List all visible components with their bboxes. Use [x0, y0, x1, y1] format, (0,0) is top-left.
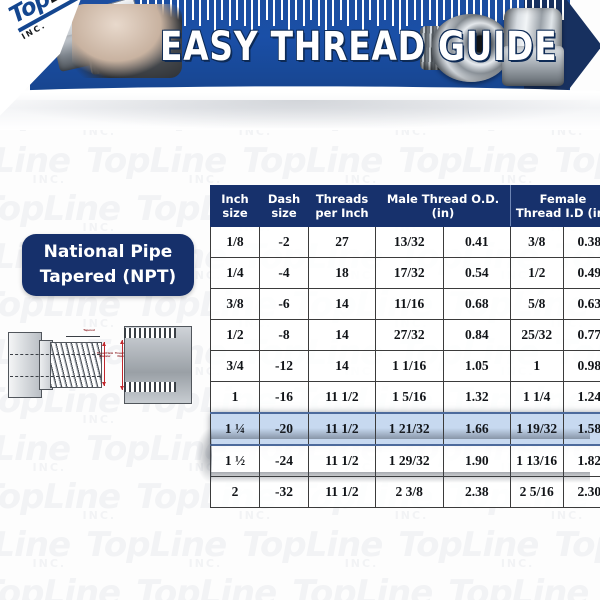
watermark-logo: TopLineINC.: [554, 143, 600, 191]
watermark-logo: TopLineINC.: [398, 143, 538, 191]
cell-tpi: 11 1/2: [309, 445, 376, 477]
cell-dash-size: -20: [260, 413, 309, 445]
cell-male-dec: 1.66: [443, 413, 511, 445]
cell-male-frac: 1 21/32: [376, 413, 444, 445]
cell-male-frac: 1 29/32: [376, 445, 444, 477]
cell-female-dec: 1.58: [563, 413, 600, 445]
watermark-logo: TopLineINC.: [292, 575, 432, 600]
watermark-logo: TopLineINC.: [0, 575, 120, 600]
cell-dash-size: -2: [260, 227, 309, 258]
npt-fitting-diagram: Tapered Thread Flank Diameter Thread Fla…: [4, 316, 200, 412]
cell-female-dec: 0.63: [563, 289, 600, 320]
watermark-logo: TopLineINC.: [86, 527, 226, 575]
watermark-logo: TopLineINC.: [554, 527, 600, 575]
ruler-tick: [384, 0, 386, 20]
banner-title: EASY THREAD GUIDE: [160, 22, 431, 74]
watermark-row: TopLineINC.TopLineINC.TopLineINC.TopLine…: [0, 575, 600, 600]
cell-inch-size: 1: [211, 382, 260, 414]
cell-female-frac: 1 13/16: [511, 445, 564, 477]
header-line-1: Female: [513, 192, 600, 206]
table-head: InchsizeDashsizeThreadsper InchMale Thre…: [211, 186, 600, 227]
cell-male-dec: 1.32: [443, 382, 511, 414]
header-line-2: Thread I.D (in): [513, 206, 600, 220]
cell-female-dec: 0.49: [563, 258, 600, 289]
ruler-tick: [443, 0, 445, 20]
watermark-logo: TopLineINC.: [0, 431, 70, 479]
thread-guide-page: TopLineINC.TopLineINC.TopLineINC.TopLine…: [0, 0, 600, 600]
cell-inch-size: 3/8: [211, 289, 260, 320]
cell-female-frac: 5/8: [511, 289, 564, 320]
header-line-2: per Inch: [311, 206, 373, 220]
thread-spec-table: InchsizeDashsizeThreadsper InchMale Thre…: [210, 185, 600, 508]
cell-female-dec: 2.30: [563, 477, 600, 508]
cell-female-frac: 1 19/32: [511, 413, 564, 445]
cell-female-frac: 1/2: [511, 258, 564, 289]
cell-dash-size: -4: [260, 258, 309, 289]
watermark-logo: TopLineINC.: [86, 431, 226, 479]
header-line-2: size: [213, 206, 257, 220]
table-row[interactable]: 1 ½-2411 1/21 29/321.901 13/161.82: [211, 445, 600, 477]
cell-inch-size: 3/4: [211, 351, 260, 382]
cell-dash-size: -16: [260, 382, 309, 414]
cell-female-frac: 3/8: [511, 227, 564, 258]
cell-male-dec: 0.84: [443, 320, 511, 351]
centerline-upper: [10, 354, 100, 355]
female-thread-top-shape: [124, 328, 176, 338]
ruler-tick: [207, 0, 209, 20]
npt-badge-line-1: National Pipe: [44, 240, 173, 265]
cell-dash-size: -32: [260, 477, 309, 508]
thread-spec-table-wrap: InchsizeDashsizeThreadsper InchMale Thre…: [210, 185, 590, 508]
cell-dash-size: -24: [260, 445, 309, 477]
cell-male-frac: 2 3/8: [376, 477, 444, 508]
cell-male-dec: 0.68: [443, 289, 511, 320]
ruler-tick: [414, 0, 416, 20]
watermark-logo: TopLineINC.: [0, 479, 120, 527]
cell-male-dec: 0.54: [443, 258, 511, 289]
table-header-row: InchsizeDashsizeThreadsper InchMale Thre…: [211, 186, 600, 227]
table-row[interactable]: 1 ¼-2011 1/21 21/321.661 19/321.58: [211, 413, 600, 445]
cell-tpi: 11 1/2: [309, 477, 376, 508]
watermark-logo: TopLineINC.: [242, 143, 382, 191]
cell-male-dec: 1.05: [443, 351, 511, 382]
header-line-1: Threads: [311, 192, 373, 206]
cell-female-dec: 0.38: [563, 227, 600, 258]
cell-female-frac: 25/32: [511, 320, 564, 351]
cell-tpi: 14: [309, 351, 376, 382]
cell-inch-size: 1 ½: [211, 445, 260, 477]
table-body: 1/8-22713/320.413/80.381/4-41817/320.541…: [211, 227, 600, 508]
cell-tpi: 14: [309, 289, 376, 320]
table-header-male-thread-o-d-in: Male Thread O.D.(in): [376, 186, 511, 227]
ruler-tick: [340, 0, 342, 20]
cell-dash-size: -8: [260, 320, 309, 351]
watermark-logo: TopLineINC.: [136, 575, 276, 600]
header-line-1: Dash: [262, 192, 306, 206]
cell-female-frac: 1: [511, 351, 564, 382]
cell-tpi: 14: [309, 320, 376, 351]
cell-tpi: 11 1/2: [309, 413, 376, 445]
cell-female-frac: 2 5/16: [511, 477, 564, 508]
cell-tpi: 11 1/2: [309, 382, 376, 414]
female-fitting-drawing: [116, 322, 196, 406]
cell-male-frac: 17/32: [376, 258, 444, 289]
table-row[interactable]: 1/2-81427/320.8425/320.77: [211, 320, 600, 351]
ruler-tick: [310, 0, 312, 20]
cell-female-dec: 0.98: [563, 351, 600, 382]
table-header-inch-size: Inchsize: [211, 186, 260, 227]
header-line-2: (in): [378, 206, 508, 220]
watermark-row: TopLineINC.TopLineINC.TopLineINC.TopLine…: [0, 527, 600, 575]
cell-inch-size: 1/8: [211, 227, 260, 258]
ruler-tick: [562, 0, 564, 20]
cell-male-frac: 13/32: [376, 227, 444, 258]
table-row[interactable]: 1/8-22713/320.413/80.38: [211, 227, 600, 258]
watermark-logo: TopLineINC.: [242, 527, 382, 575]
cell-dash-size: -6: [260, 289, 309, 320]
centerline-lower: [10, 376, 100, 377]
npt-badge-line-2: Tapered (NPT): [40, 265, 176, 290]
cell-male-dec: 1.90: [443, 445, 511, 477]
table-header-dash-size: Dashsize: [260, 186, 309, 227]
male-fitting-drawing: [8, 328, 104, 400]
ruler-tick: [295, 0, 297, 20]
ruler-tick: [236, 0, 238, 20]
cell-tpi: 27: [309, 227, 376, 258]
header-line-1: Inch: [213, 192, 257, 206]
cell-female-dec: 1.82: [563, 445, 600, 477]
header-line-2: size: [262, 206, 306, 220]
ruler-tick: [369, 0, 371, 20]
cell-male-frac: 1 1/16: [376, 351, 444, 382]
watermark-row: TopLineINC.TopLineINC.TopLineINC.TopLine…: [0, 143, 600, 191]
male-thread-shape: [50, 342, 102, 388]
cell-male-dec: 0.41: [443, 227, 511, 258]
cell-inch-size: 1/4: [211, 258, 260, 289]
watermark-logo: TopLineINC.: [0, 191, 120, 239]
cell-inch-size: 2: [211, 477, 260, 508]
cell-female-dec: 0.77: [563, 320, 600, 351]
watermark-logo: TopLineINC.: [448, 575, 588, 600]
table-header-threads-per-inch: Threadsper Inch: [309, 186, 376, 227]
cell-inch-size: 1/2: [211, 320, 260, 351]
male-dimension-arrow: [104, 342, 105, 386]
table-row[interactable]: 3/8-61411/160.685/80.63: [211, 289, 600, 320]
watermark-logo: TopLineINC.: [0, 527, 70, 575]
cell-tpi: 18: [309, 258, 376, 289]
watermark-logo: TopLineINC.: [86, 143, 226, 191]
ruler-tick: [266, 0, 268, 20]
diagram-label-tapered: Tapered: [78, 329, 100, 332]
table-header-female-thread-i-d-in: FemaleThread I.D (in): [511, 186, 600, 227]
female-thread-bottom-shape: [124, 382, 176, 392]
watermark-logo: TopLineINC.: [0, 143, 70, 191]
cell-male-frac: 1 5/16: [376, 382, 444, 414]
cell-dash-size: -12: [260, 351, 309, 382]
cell-female-dec: 1.24: [563, 382, 600, 414]
ruler-tick: [355, 0, 357, 20]
table-row[interactable]: 3/4-12141 1/161.0510.98: [211, 351, 600, 382]
npt-badge: National Pipe Tapered (NPT): [22, 234, 194, 296]
diagram-label-male: Thread Flank Diameter: [95, 352, 115, 359]
tapered-leader-line: [66, 336, 100, 337]
ruler-tick: [221, 0, 223, 20]
table-row[interactable]: 1/4-41817/320.541/20.49: [211, 258, 600, 289]
watermark-logo: TopLineINC.: [398, 527, 538, 575]
cell-male-dec: 2.38: [443, 477, 511, 508]
page-curl-shadow: [10, 100, 590, 128]
table-row[interactable]: 2-3211 1/22 3/82.382 5/162.30: [211, 477, 600, 508]
cell-male-frac: 27/32: [376, 320, 444, 351]
ruler-tick: [192, 0, 194, 20]
cell-female-frac: 1 1/4: [511, 382, 564, 414]
table-row[interactable]: 1-1611 1/21 5/161.321 1/41.24: [211, 382, 600, 414]
cell-inch-size: 1 ¼: [211, 413, 260, 445]
male-hex-nut-shape: [8, 332, 42, 398]
ruler-tick: [281, 0, 283, 20]
cell-male-frac: 11/16: [376, 289, 444, 320]
ruler-tick: [429, 0, 431, 20]
header-line-1: Male Thread O.D.: [378, 192, 508, 206]
